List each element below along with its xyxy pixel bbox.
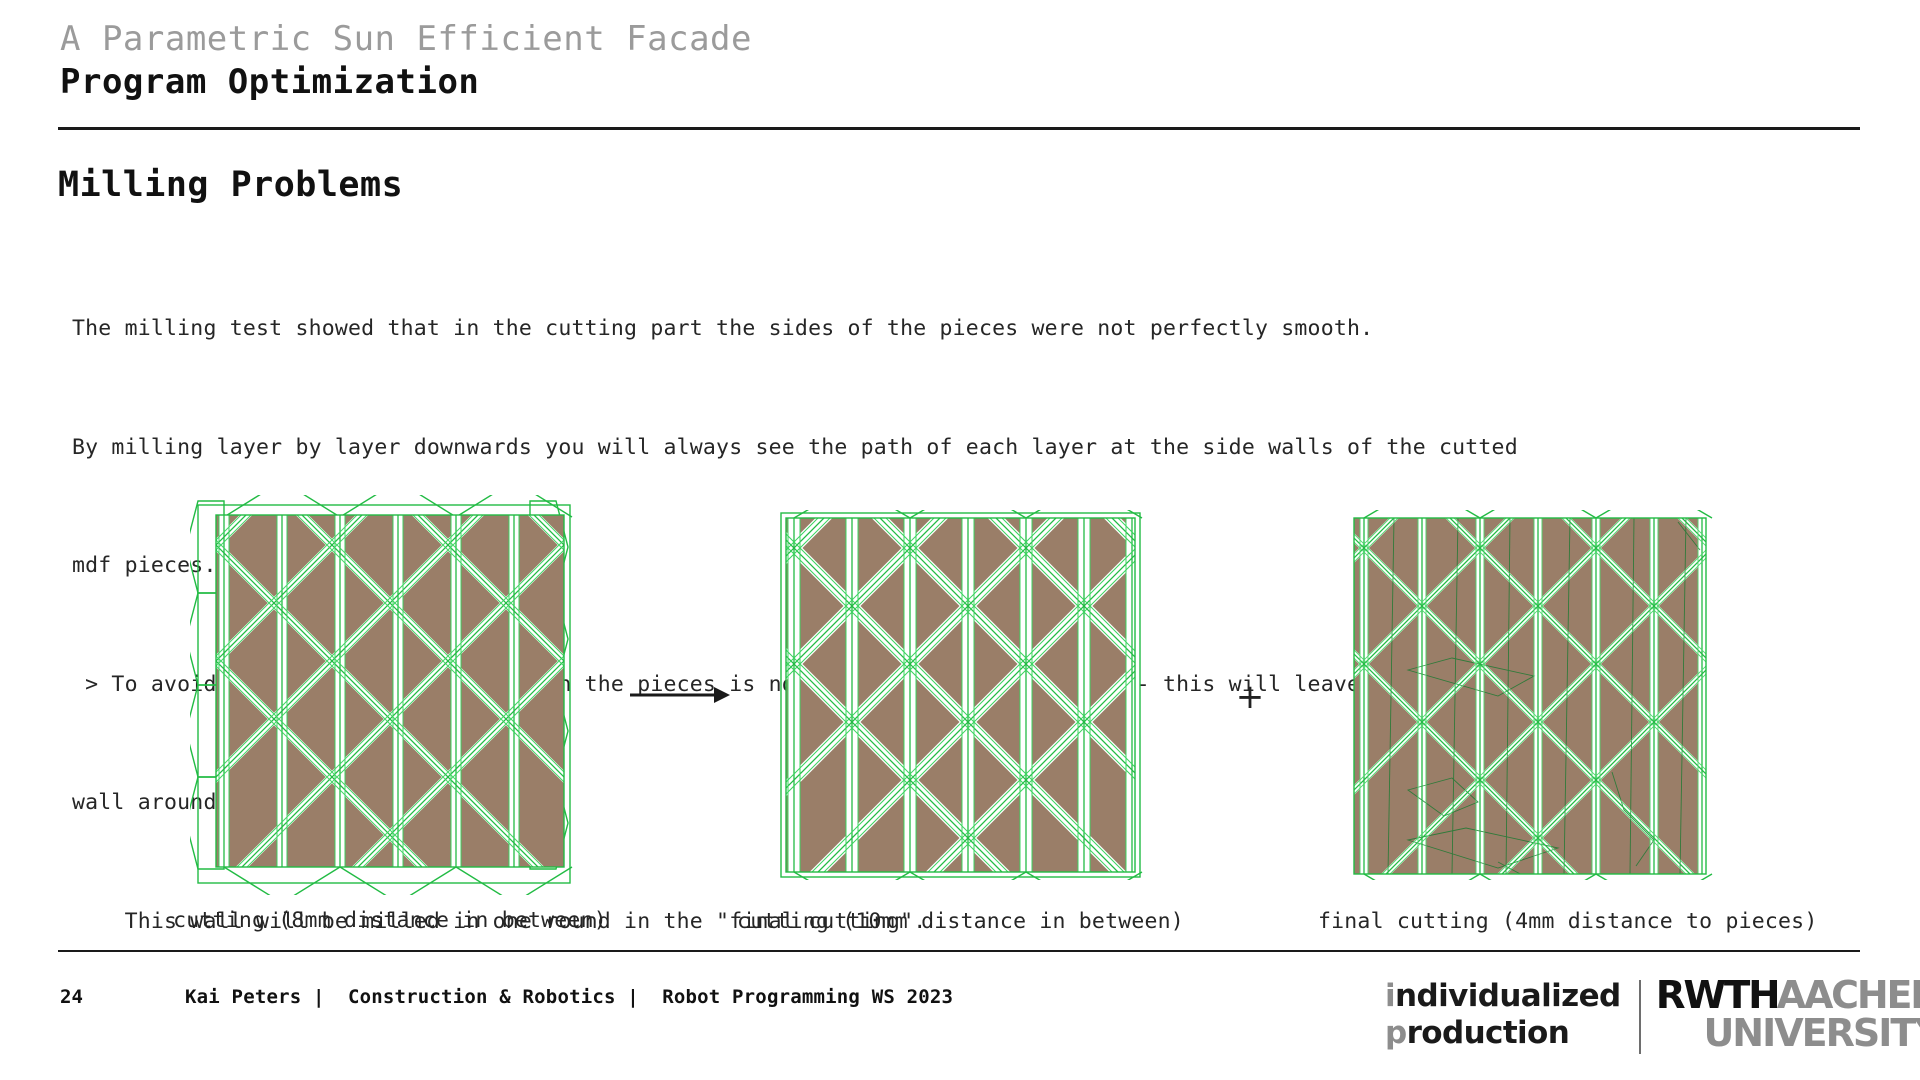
ip-line2-rest: roduction — [1407, 1015, 1570, 1051]
rwth-aachen-university-logo: RWTHAACHEN UNIVERSITY — [1657, 978, 1920, 1051]
rwth-university: UNIVERSITY — [1657, 1016, 1920, 1051]
header-superline: A Parametric Sun Efficient Facade — [60, 18, 1860, 60]
cutting-8mm-diagram — [190, 495, 590, 895]
figure-final-cutting-4mm: final cutting (4mm distance to pieces) — [1348, 510, 1713, 880]
figure-caption: final cutting (4mm distance to pieces) — [1318, 908, 1748, 936]
rwth-aachen: AACHEN — [1777, 978, 1920, 1013]
figure-caption: cutting (10mm distance in between) — [733, 908, 1188, 936]
header-divider — [58, 127, 1860, 130]
final-cutting-diagram — [1348, 510, 1713, 880]
plus-icon: + — [1235, 682, 1265, 712]
page-number: 24 — [60, 986, 83, 1008]
ip-line1-rest: ndividualized — [1395, 978, 1621, 1014]
logo-group: individualized production RWTHAACHEN UNI… — [1385, 978, 1920, 1068]
individualized-production-logo: individualized production — [1385, 978, 1621, 1052]
slide-header: A Parametric Sun Efficient Facade Progra… — [60, 18, 1860, 104]
footer-meta: Kai Peters | Construction & Robotics | R… — [185, 986, 953, 1008]
arrow-right-icon — [630, 684, 730, 706]
paragraph-line: By milling layer by layer downwards you … — [72, 428, 1832, 468]
rwth-mark: RWTH — [1655, 978, 1778, 1013]
footer-divider — [58, 950, 1860, 952]
logo-divider — [1639, 980, 1641, 1054]
page-title: Program Optimization — [60, 60, 1860, 104]
figure-cutting-8mm: cutting (8mm distance in between) — [190, 495, 590, 895]
section-heading: Milling Problems — [58, 163, 403, 207]
cutting-10mm-diagram — [778, 510, 1143, 880]
figure-cutting-10mm: cutting (10mm distance in between) — [778, 510, 1143, 880]
paragraph-line: The milling test showed that in the cutt… — [72, 309, 1832, 349]
ip-line2-lead: p — [1385, 1015, 1407, 1051]
figure-caption: cutting (8mm distance in between) — [150, 907, 630, 935]
ip-line1-lead: i — [1385, 978, 1395, 1014]
